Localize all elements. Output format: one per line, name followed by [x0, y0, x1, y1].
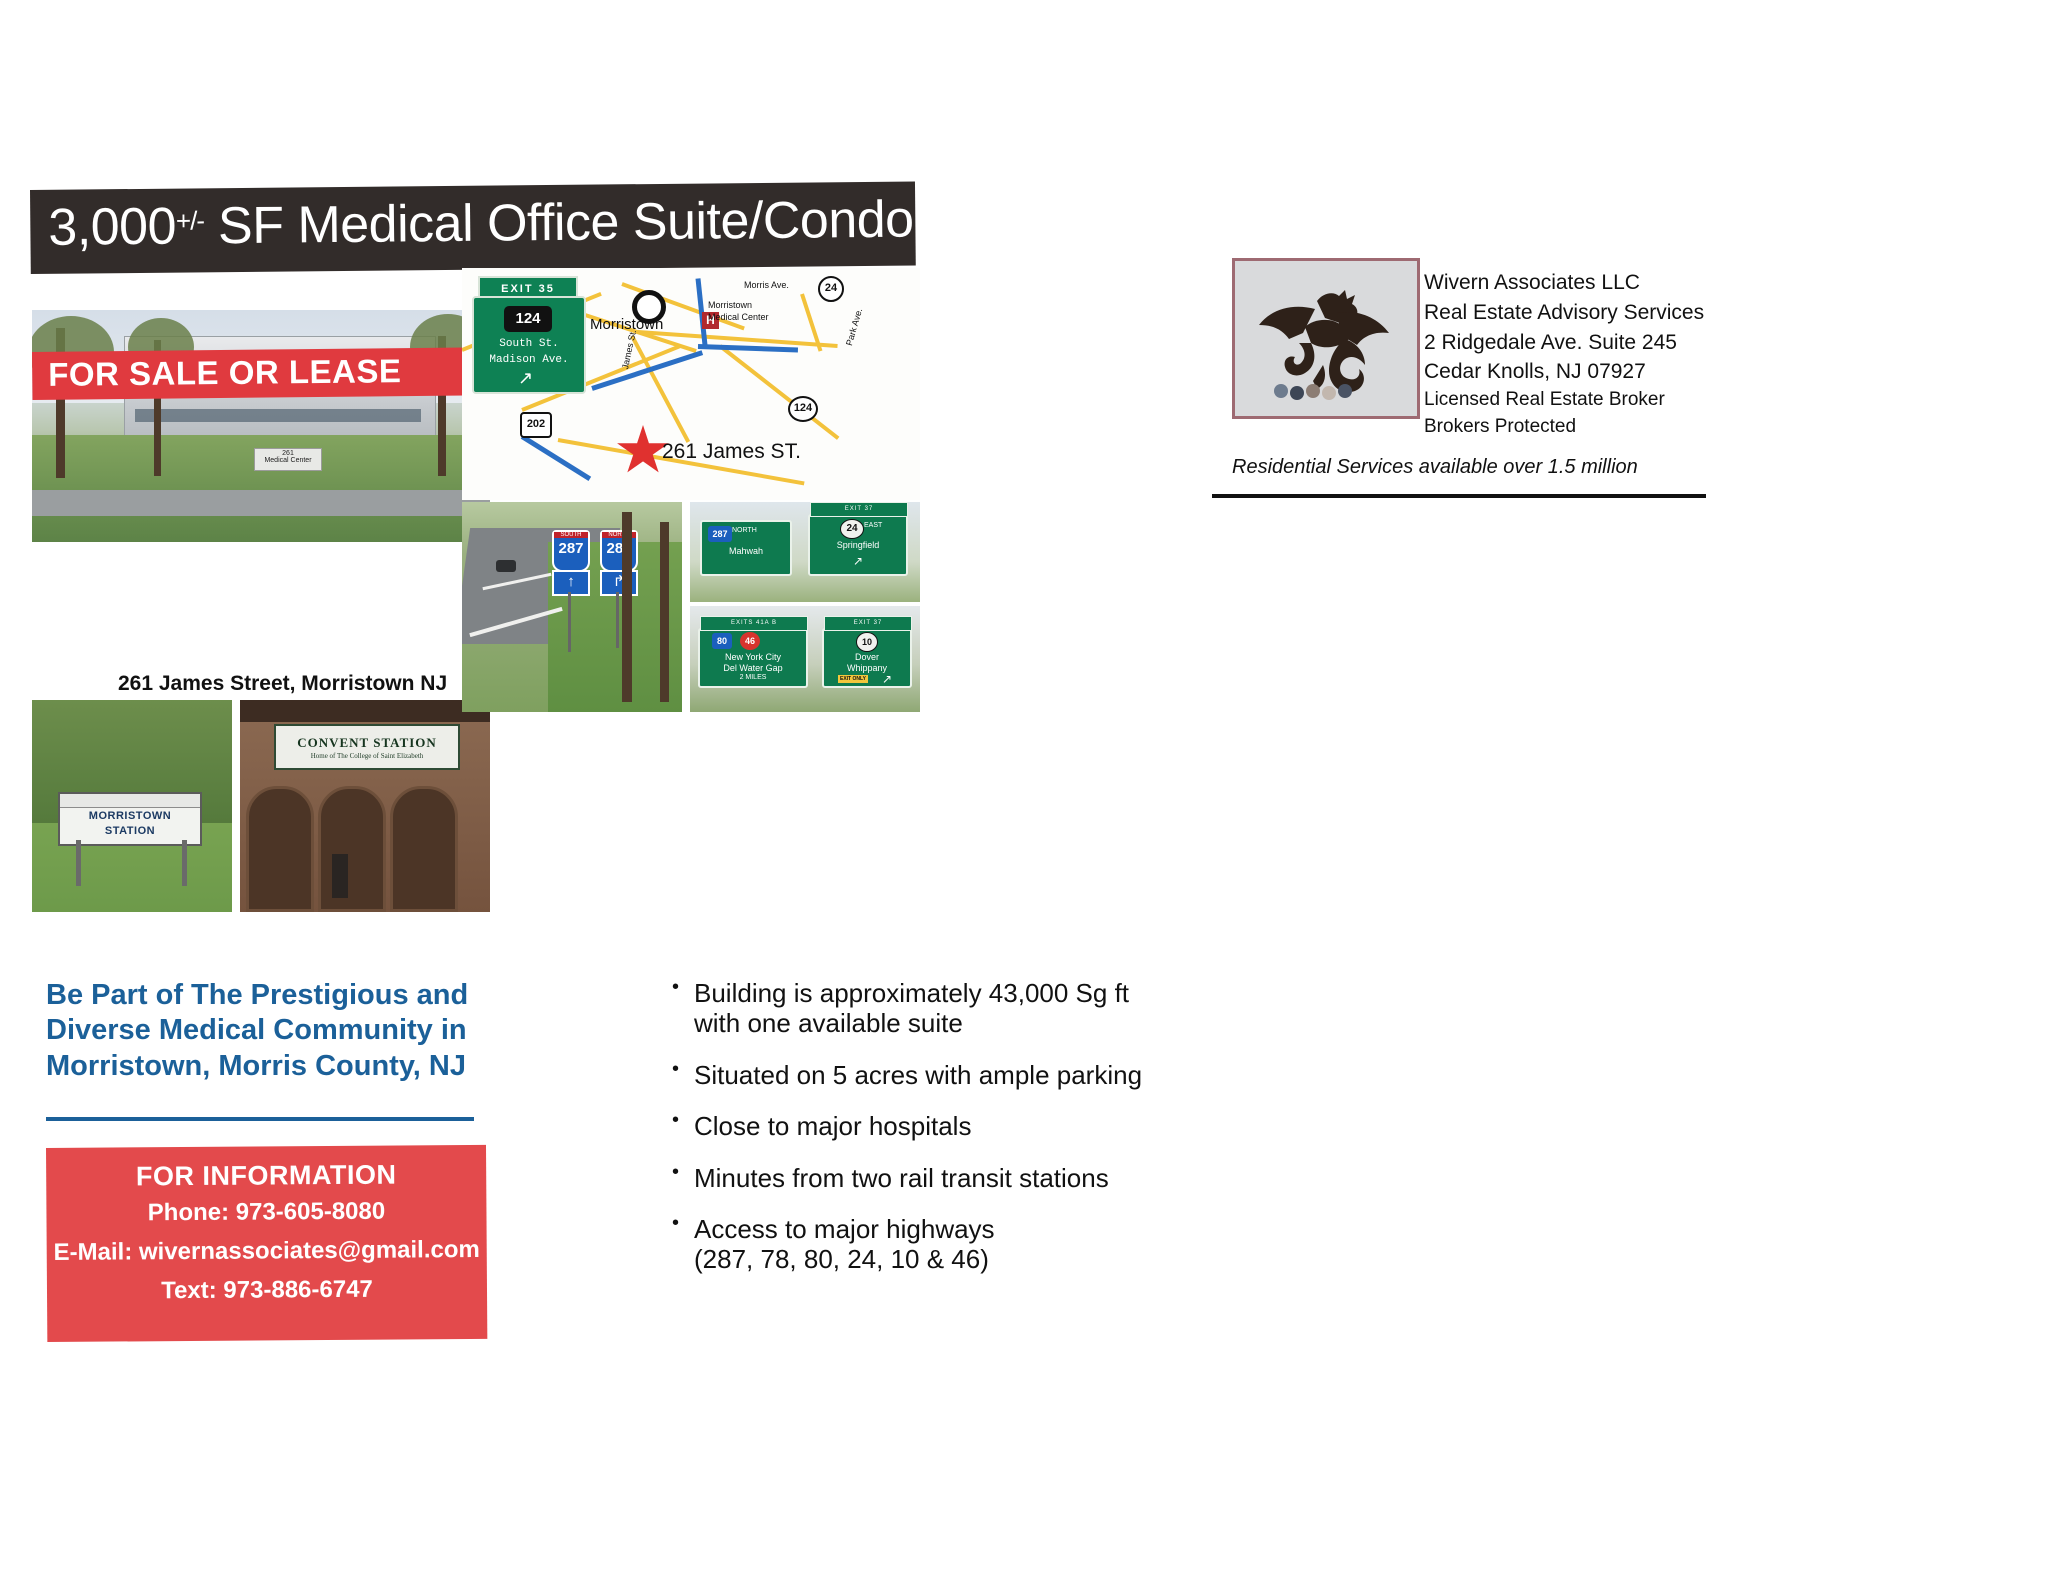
exit-37-tab: EXIT 37 — [824, 616, 912, 631]
feature-bullet-list: Building is approximately 43,000 Sg ft w… — [668, 978, 1308, 1296]
exits-41ab-tab: EXITS 41A B — [700, 616, 808, 631]
bullet-text-line1: Minutes from two rail transit stations — [694, 1163, 1109, 1193]
map-label-morris-ave: Morris Ave. — [744, 280, 789, 290]
route-287-north-arrow: ↱ — [600, 570, 638, 596]
destination-dover: Dover — [824, 652, 910, 662]
morristown-station-photo: MORRISTOWN STATION — [32, 700, 232, 912]
bullet-text-line1: Building is approximately 43,000 Sg ft — [694, 978, 1129, 1008]
route-shield-202: 202 — [520, 412, 552, 438]
broker-divider — [1212, 494, 1706, 498]
title-number: 3,000 — [48, 198, 176, 257]
bullet-text-line1: Access to major highways — [694, 1214, 995, 1244]
exit-only-badge: EXIT ONLY — [838, 675, 868, 683]
springfield-sign: EXIT 37 24 EAST Springfield ↗ — [808, 514, 908, 576]
route-287-north-shield: NORTH 287 — [600, 530, 638, 572]
shield-number: 287 — [558, 540, 583, 557]
convent-station-photo: CONVENT STATION Home of The College of S… — [240, 700, 490, 912]
mahwah-sign: 287 NORTH Mahwah — [700, 520, 792, 576]
green-sign-photo-top: 287 NORTH Mahwah EXIT 37 24 EAST Springf… — [690, 502, 920, 602]
sign-dest-1: South St. — [474, 338, 584, 350]
list-item: Close to major hospitals — [668, 1111, 1308, 1141]
broker-license: Licensed Real Estate Broker — [1424, 387, 1704, 414]
car — [496, 560, 516, 572]
broker-address-line2: Cedar Knolls, NJ 07927 — [1424, 357, 1704, 387]
building-monument-sign: 261Medical Center — [254, 448, 322, 471]
distance-label: 2 MILES — [700, 674, 806, 681]
sign-arrow-icon: ↗ — [518, 368, 533, 389]
tagline-divider — [46, 1117, 474, 1121]
destination-mahwah: Mahwah — [702, 546, 790, 556]
route-shield-124: 124 — [788, 396, 818, 422]
nj-transit-bar — [60, 794, 200, 808]
sign-dest-2: Madison Ave. — [474, 354, 584, 366]
tagline-line-1: Be Part of The Prestigious and — [46, 978, 506, 1013]
station-name-line2: STATION — [60, 825, 200, 837]
dover-whippany-sign: EXIT 37 10 Dover Whippany EXIT ONLY ↗ — [822, 628, 912, 688]
bullet-text-line1: Close to major hospitals — [694, 1111, 971, 1141]
contact-phone[interactable]: Phone: 973-605-8080 — [46, 1197, 486, 1228]
page-title: 3,000+/- SF Medical Office Suite/Condo — [48, 190, 914, 258]
list-item: Access to major highways (287, 78, 80, 2… — [668, 1214, 1308, 1275]
direction-east: EAST — [864, 522, 904, 529]
tagline-line-2: Diverse Medical Community in — [46, 1013, 506, 1048]
destination-springfield: Springfield — [810, 540, 906, 550]
convent-name: CONVENT STATION — [276, 735, 458, 751]
direction-north: NORTH — [732, 527, 784, 534]
title-rest: SF Medical Office Suite/Condo — [204, 191, 914, 256]
nyc-sign: EXITS 41A B 80 46 New York City Del Wate… — [698, 628, 808, 688]
brokers-protected: Brokers Protected — [1424, 414, 1704, 441]
roof-band — [240, 700, 490, 722]
contact-email[interactable]: E-Mail: wivernassociates@gmail.com — [47, 1236, 487, 1267]
broker-address-line1: 2 Ridgedale Ave. Suite 245 — [1424, 328, 1704, 358]
green-sign-photo-bottom: EXITS 41A B 80 46 New York City Del Wate… — [690, 606, 920, 712]
list-item: Minutes from two rail transit stations — [668, 1163, 1308, 1193]
dragon-logo-icon — [1253, 283, 1399, 401]
station-name-line1: MORRISTOWN — [60, 810, 200, 822]
map-label-hospital-2: Medical Center — [708, 312, 769, 322]
shield-top-label: SOUTH — [554, 532, 588, 538]
residential-services-note: Residential Services available over 1.5 … — [1232, 456, 1638, 479]
sign-arrow-icon: ↗ — [870, 672, 904, 686]
for-sale-banner-label: FOR SALE OR LEASE — [48, 352, 402, 394]
contact-text-number[interactable]: Text: 973-886-6747 — [47, 1275, 487, 1306]
map-label-morristown: Morristown — [590, 316, 663, 333]
title-band: 3,000+/- SF Medical Office Suite/Condo — [30, 182, 916, 274]
route-124-shield: 124 — [504, 306, 552, 332]
bullet-text-line2: (287, 78, 80, 24, 10 & 46) — [694, 1244, 989, 1274]
highway-287-photo: SOUTH 287 ↑ NORTH 287 ↱ — [462, 502, 682, 712]
convent-station-sign: CONVENT STATION Home of The College of S… — [274, 724, 460, 770]
route-287-south-arrow: ↑ — [552, 570, 590, 596]
property-location-label: 261 James ST. — [662, 440, 801, 464]
route-287-south-shield: SOUTH 287 — [552, 530, 590, 572]
title-plusminus: +/- — [176, 205, 204, 235]
contact-info-box: FOR INFORMATION Phone: 973-605-8080 E-Ma… — [46, 1145, 487, 1342]
map-label-park-ave: Park Ave. — [844, 307, 864, 347]
broker-contact-block: Wivern Associates LLC Real Estate Adviso… — [1424, 268, 1704, 441]
building-photo: 261Medical Center — [32, 310, 490, 542]
broker-name: Wivern Associates LLC — [1424, 268, 1704, 298]
bullet-text-line2: with one available suite — [694, 1008, 963, 1038]
sign-arrow-icon: ↗ — [810, 554, 906, 568]
driveway — [32, 490, 490, 516]
building-address-caption: 261 James Street, Morristown NJ — [118, 672, 447, 696]
wivern-logo-box — [1232, 258, 1420, 419]
for-sale-banner: FOR SALE OR LEASE — [32, 347, 488, 400]
destination-delaware-water-gap: Del Water Gap — [700, 663, 806, 673]
tagline-line-3: Morristown, Morris County, NJ — [46, 1049, 506, 1084]
route-shield-24: 24 — [818, 276, 844, 302]
ticket-machine — [332, 854, 348, 898]
bullet-text-line1: Situated on 5 acres with ample parking — [694, 1060, 1142, 1090]
list-item: Situated on 5 acres with ample parking — [668, 1060, 1308, 1090]
list-item: Building is approximately 43,000 Sg ft w… — [668, 978, 1308, 1039]
route-287-shield: 287 — [708, 526, 732, 542]
convent-subtitle: Home of The College of Saint Elizabeth — [276, 752, 458, 760]
route-24-shield: 24 — [840, 519, 864, 539]
route-80-shield: 80 — [712, 633, 732, 649]
destination-nyc: New York City — [700, 652, 806, 662]
contact-heading: FOR INFORMATION — [46, 1159, 486, 1193]
map-label-hospital-1: Morristown — [708, 300, 752, 310]
tagline: Be Part of The Prestigious and Diverse M… — [46, 978, 506, 1084]
route-46-shield: 46 — [740, 632, 760, 650]
morristown-station-sign: MORRISTOWN STATION — [58, 792, 202, 846]
broker-services: Real Estate Advisory Services — [1424, 298, 1704, 328]
exit-35-green-sign: 124 South St. Madison Ave. ↗ — [472, 296, 586, 394]
exit-37-tab: EXIT 37 — [810, 502, 908, 517]
route-10-shield: 10 — [856, 632, 878, 652]
